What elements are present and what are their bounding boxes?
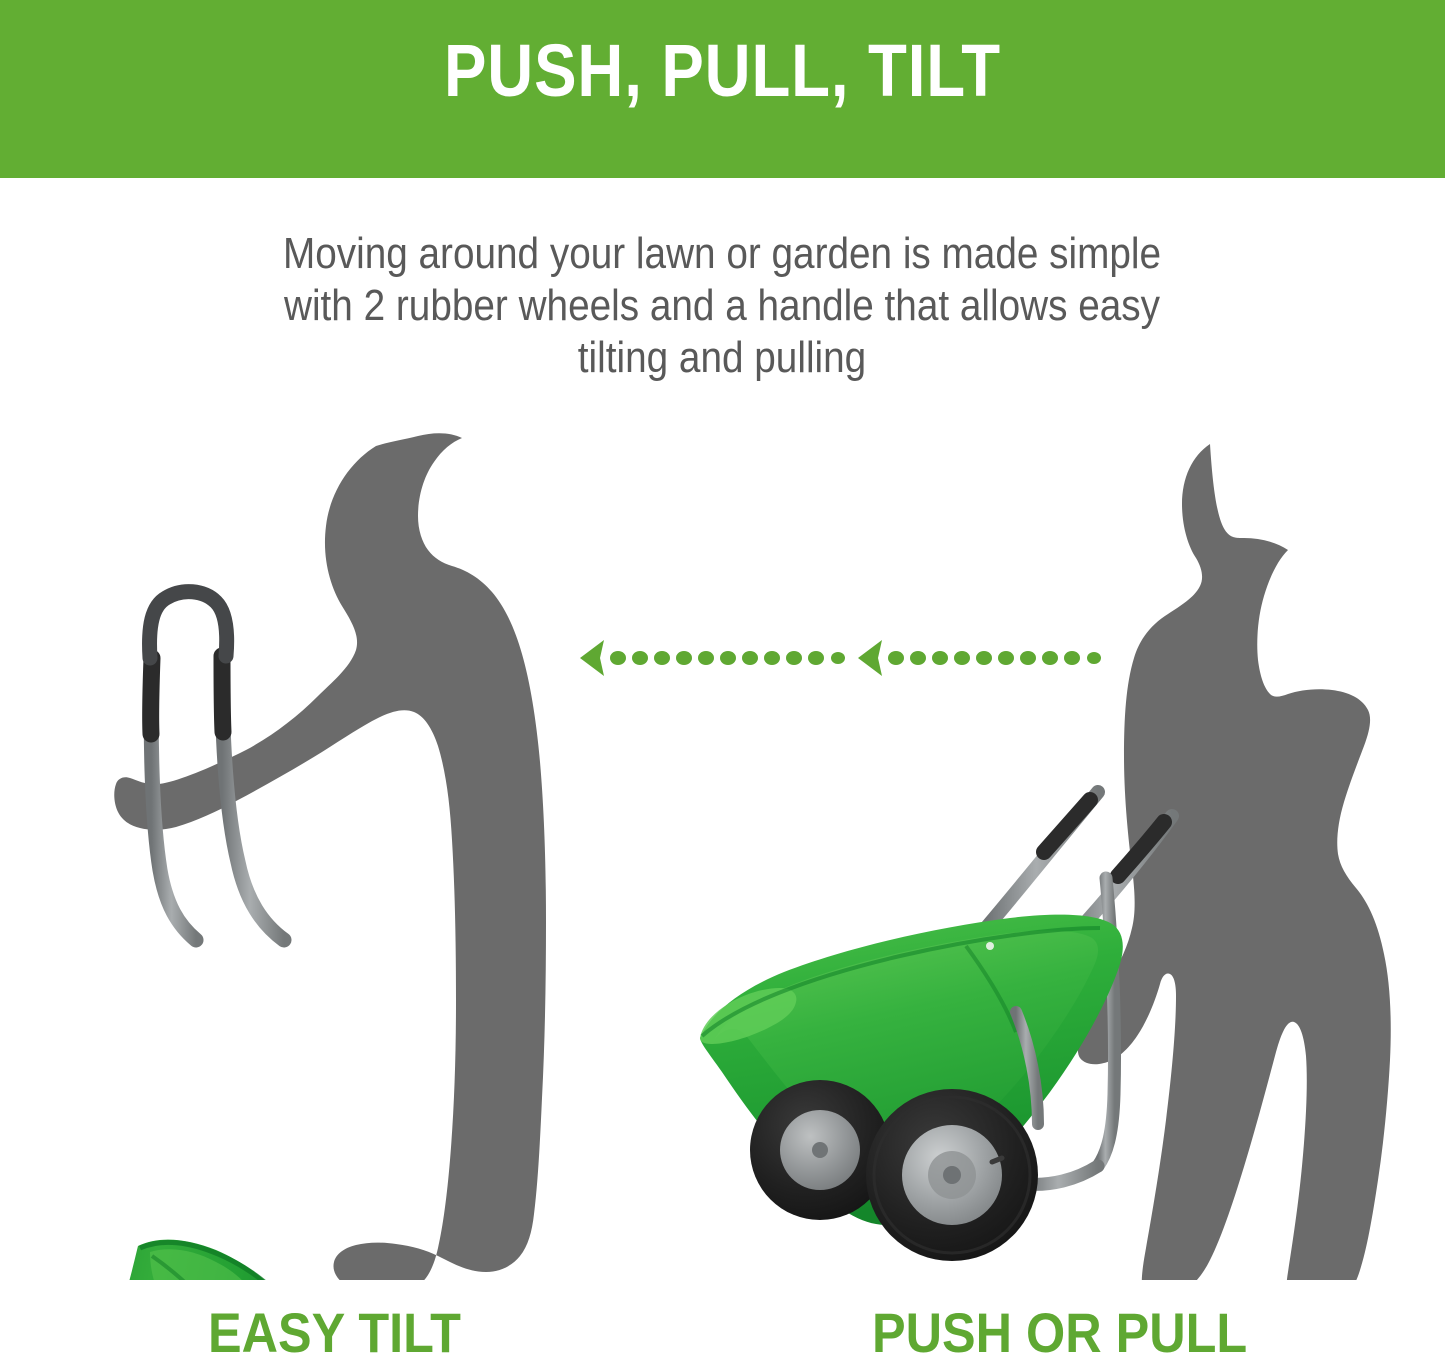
arrow-dot [610, 651, 626, 665]
arrow-segment-1 [580, 640, 845, 676]
subtitle-text: Moving around your lawn or garden is mad… [282, 228, 1162, 384]
caption-push-or-pull: PUSH OR PULL [872, 1305, 1247, 1361]
caption-easy-tilt: EASY TILT [208, 1305, 461, 1361]
arrow-head-icon [580, 640, 604, 676]
arrow-dot [808, 651, 824, 665]
arrow-dot [954, 651, 970, 665]
arrow-dot [786, 651, 802, 665]
arrow-dot [998, 651, 1014, 665]
arrow-dot [632, 651, 648, 665]
frame-leg-front [222, 668, 284, 940]
handle-bar-top [150, 592, 227, 658]
illustration-scene [0, 400, 1445, 1280]
arrow-dot [932, 651, 948, 665]
arrow-dot [764, 651, 780, 665]
arrow-dot [976, 651, 992, 665]
arrow-dot [698, 651, 714, 665]
handle-grip-upper [1044, 800, 1090, 852]
wheel-near [866, 1089, 1038, 1261]
arrow-dot [910, 651, 926, 665]
arrow-dot [1020, 651, 1036, 665]
arrow-dot [654, 651, 670, 665]
right-illustration-group [700, 444, 1391, 1280]
arrow-dot [742, 651, 758, 665]
arrow-dot [1064, 651, 1080, 665]
arrow-dot [831, 652, 845, 664]
arrow-dot [1042, 651, 1058, 665]
direction-arrows [570, 630, 1110, 690]
arrow-dot [720, 651, 736, 665]
wheel-far [750, 1080, 890, 1220]
arrow-dot [1087, 652, 1101, 664]
handle-grip-back [151, 658, 152, 734]
tray-bolt [986, 942, 994, 950]
arrow-head-icon [858, 640, 882, 676]
silhouette-tilting-person [114, 433, 546, 1280]
wheel-axle-bolt [812, 1142, 828, 1158]
arrow-dot [676, 651, 692, 665]
page-title: PUSH, PULL, TILT [101, 34, 1344, 108]
wheel-axle-bolt [943, 1166, 961, 1184]
arrow-dot [888, 651, 904, 665]
header-banner: PUSH, PULL, TILT [0, 0, 1445, 178]
left-illustration-group [68, 433, 546, 1280]
arrow-segment-2 [858, 640, 1101, 676]
handle-grip-front [222, 656, 223, 732]
infographic-page: PUSH, PULL, TILT Moving around your lawn… [0, 0, 1445, 1366]
